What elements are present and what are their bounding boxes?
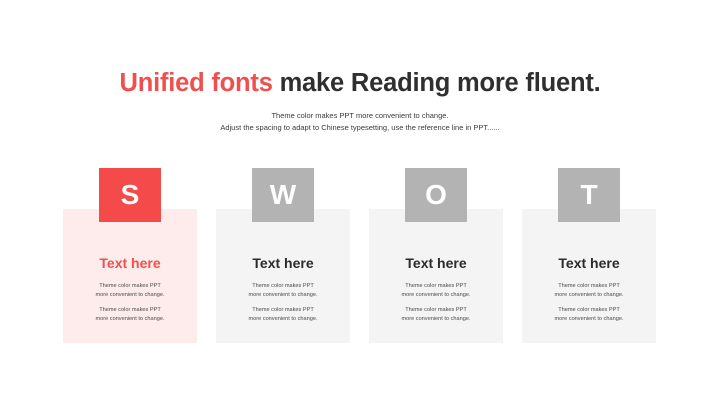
card-paragraph-1: Theme color makes PPT more convenient to… xyxy=(63,282,197,299)
card-paragraph-2-line-1: Theme color makes PPT xyxy=(216,306,350,315)
card-paragraph-1-line-1: Theme color makes PPT xyxy=(369,282,503,291)
card-paragraph-1-line-1: Theme color makes PPT xyxy=(216,282,350,291)
swot-card-threats[interactable]: Text here Theme color makes PPT more con… xyxy=(522,168,656,343)
page-subtitle-line-2: Adjust the spacing to adapt to Chinese t… xyxy=(0,122,720,134)
page-title: Unified fonts make Reading more fluent. xyxy=(0,68,720,98)
card-content: Text here Theme color makes PPT more con… xyxy=(63,209,197,343)
card-paragraph-1-line-1: Theme color makes PPT xyxy=(63,282,197,291)
card-paragraph-2: Theme color makes PPT more convenient to… xyxy=(369,306,503,323)
card-paragraph-2-line-1: Theme color makes PPT xyxy=(63,306,197,315)
card-paragraph-2-line-2: more convenient to change. xyxy=(369,315,503,324)
card-paragraph-2-line-2: more convenient to change. xyxy=(522,315,656,324)
slide-header: Unified fonts make Reading more fluent. … xyxy=(0,68,720,133)
page-title-rest: make Reading more fluent. xyxy=(273,69,601,97)
card-paragraph-1-line-1: Theme color makes PPT xyxy=(522,282,656,291)
page-subtitle: Theme color makes PPT more convenient to… xyxy=(0,110,720,133)
swot-card-opportunities[interactable]: Text here Theme color makes PPT more con… xyxy=(369,168,503,343)
card-heading: Text here xyxy=(369,255,503,272)
swot-card-strengths[interactable]: Text here Theme color makes PPT more con… xyxy=(63,168,197,343)
card-paragraph-2: Theme color makes PPT more convenient to… xyxy=(63,306,197,323)
card-paragraph-1-line-2: more convenient to change. xyxy=(369,291,503,300)
card-paragraph-2-line-2: more convenient to change. xyxy=(216,315,350,324)
letter-tile-s: S xyxy=(99,168,161,222)
card-paragraph-1-line-2: more convenient to change. xyxy=(216,291,350,300)
swot-card-row: Text here Theme color makes PPT more con… xyxy=(63,168,657,343)
letter-tile-o: O xyxy=(405,168,467,222)
card-paragraph-1: Theme color makes PPT more convenient to… xyxy=(216,282,350,299)
card-paragraph-2-line-1: Theme color makes PPT xyxy=(369,306,503,315)
card-paragraph-2: Theme color makes PPT more convenient to… xyxy=(216,306,350,323)
letter-tile-t: T xyxy=(558,168,620,222)
card-paragraph-1-line-2: more convenient to change. xyxy=(63,291,197,300)
card-paragraph-1-line-2: more convenient to change. xyxy=(522,291,656,300)
card-paragraph-2-line-2: more convenient to change. xyxy=(63,315,197,324)
card-paragraph-2-line-1: Theme color makes PPT xyxy=(522,306,656,315)
card-paragraph-2: Theme color makes PPT more convenient to… xyxy=(522,306,656,323)
swot-card-weaknesses[interactable]: Text here Theme color makes PPT more con… xyxy=(216,168,350,343)
page-subtitle-line-1: Theme color makes PPT more convenient to… xyxy=(0,110,720,122)
card-content: Text here Theme color makes PPT more con… xyxy=(369,209,503,343)
card-paragraph-1: Theme color makes PPT more convenient to… xyxy=(522,282,656,299)
slide-canvas: Unified fonts make Reading more fluent. … xyxy=(0,0,720,404)
card-content: Text here Theme color makes PPT more con… xyxy=(522,209,656,343)
page-title-accent: Unified fonts xyxy=(119,69,272,97)
card-content: Text here Theme color makes PPT more con… xyxy=(216,209,350,343)
card-heading: Text here xyxy=(216,255,350,272)
letter-tile-w: W xyxy=(252,168,314,222)
card-paragraph-1: Theme color makes PPT more convenient to… xyxy=(369,282,503,299)
card-heading: Text here xyxy=(63,255,197,272)
card-heading: Text here xyxy=(522,255,656,272)
